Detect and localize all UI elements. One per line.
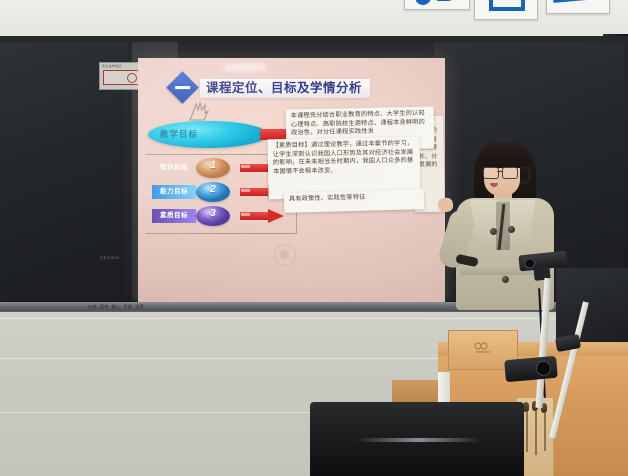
slide-row-2-label: 能力目标 xyxy=(152,185,196,199)
coat-button-3 xyxy=(502,276,509,283)
display-brand-badge: SEEWO xyxy=(100,255,120,260)
slide-row-3-label: 素质目标 xyxy=(152,209,196,223)
school-emblem-icon xyxy=(474,340,492,354)
presenter-hand xyxy=(437,197,454,213)
slide-row-2-number: 2 xyxy=(196,184,230,195)
notice-graphic xyxy=(103,70,141,85)
slide-row-1-number: 1 xyxy=(196,160,230,171)
ledge-label-4[interactable]: 设置 xyxy=(135,304,144,310)
ledge-label-1[interactable]: 菜单 xyxy=(100,304,109,310)
slide-text-pane-c: 具有政策性、实践性等特征 xyxy=(284,189,424,213)
diamond-bullet-icon xyxy=(166,71,199,104)
wall-poster-1 xyxy=(404,0,470,10)
slide-text-c: 具有政策性、实践性等特征 xyxy=(284,189,424,207)
ledge-label-0[interactable]: 电源 xyxy=(88,304,97,310)
wall-poster-2 xyxy=(474,0,538,20)
classroom-scene: 安全操作提示 SEEWO 课程定位、目标及学情分析 教学目标 知识目标 1 xyxy=(0,0,628,476)
video-camera-icon-secondary xyxy=(504,356,558,382)
slide-highlight-ellipse: 教学目标 xyxy=(148,121,268,148)
red-arrow-icon xyxy=(240,209,284,223)
wall-poster-3 xyxy=(546,0,610,14)
headset-microphone-icon xyxy=(518,166,531,184)
ledge-label-2[interactable]: 输入 xyxy=(112,304,121,310)
desktop-monitor-icon[interactable] xyxy=(310,402,524,476)
monitor-speaker-slit xyxy=(356,438,482,442)
slide-row-1-bubble: 1 xyxy=(196,158,230,178)
slide-row-3-number: 3 xyxy=(196,208,230,219)
ledge-label-3[interactable]: 音量 xyxy=(123,304,132,310)
projected-slide: 课程定位、目标及学情分析 教学目标 知识目标 1 能力目标 2 xyxy=(138,58,445,304)
glasses-icon xyxy=(483,167,519,178)
slide-title: 课程定位、目标及学情分析 xyxy=(206,80,374,97)
projector-glare xyxy=(224,64,266,71)
presenter xyxy=(452,136,558,308)
presenter-hair-front xyxy=(478,142,530,168)
slide-row-2-bubble: 2 xyxy=(196,182,230,202)
slide-highlight-label: 教学目标 xyxy=(160,128,198,140)
slide-text-b: 【素质目标】通过理论教学，通过本章节的学习，让学生深刻认识我国人口形势及其对经济… xyxy=(267,137,420,180)
hand-illustration-icon xyxy=(186,100,212,122)
coat-button-1 xyxy=(490,228,497,235)
slide-row-1-label: 知识目标 xyxy=(152,161,196,175)
slide-row-3-bubble: 3 xyxy=(196,206,230,226)
coat-button-2 xyxy=(508,226,515,233)
display-control-labels: 电源 菜单 输入 音量 设置 xyxy=(88,303,258,310)
circular-watermark-icon xyxy=(274,244,296,266)
